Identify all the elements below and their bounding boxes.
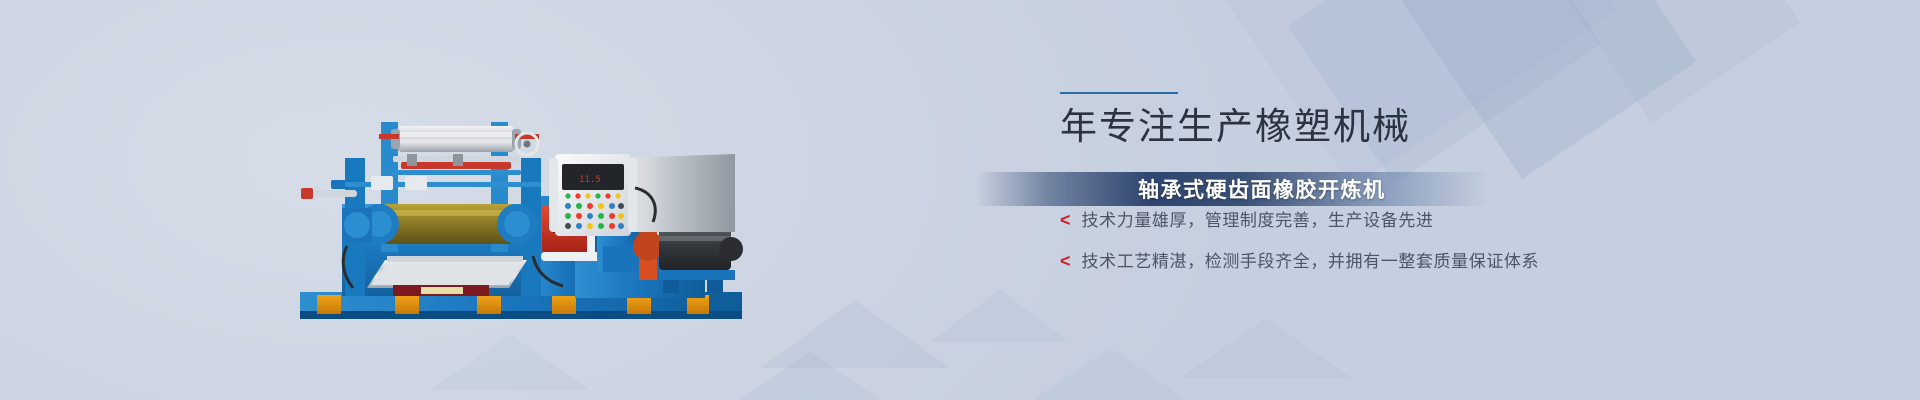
decorative-triangle-icon <box>690 352 930 400</box>
chevron-left-icon: < <box>1060 211 1071 229</box>
rubber-mixing-mill-photo: 11.5 <box>287 96 784 336</box>
svg-text:11.5: 11.5 <box>579 175 601 185</box>
list-item-label: 技术工艺精湛，检测手段齐全，并拥有一整套质量保证体系 <box>1082 247 1540 272</box>
decorative-triangle-icon <box>1000 348 1220 400</box>
title-rule-divider <box>1060 92 1178 94</box>
hero-banner: 11.5 <box>0 0 1920 400</box>
decorative-triangle-icon <box>1180 318 1352 378</box>
decorative-triangle-icon <box>430 334 590 390</box>
subtitle-banner: 轴承式硬齿面橡胶开炼机 <box>978 172 1486 206</box>
subtitle-text: 轴承式硬齿面橡胶开炼机 <box>1138 174 1386 204</box>
product-image: 11.5 <box>287 96 784 336</box>
chevron-left-icon: < <box>1060 252 1071 270</box>
feature-bullet-list: < 技术力量雄厚，管理制度完善，生产设备先进 < 技术工艺精湛，检测手段齐全，并… <box>1060 206 1620 272</box>
list-item: < 技术力量雄厚，管理制度完善，生产设备先进 <box>1060 206 1620 231</box>
hero-text-column: 年专注生产橡塑机械 轴承式硬齿面橡胶开炼机 < 技术力量雄厚，管理制度完善，生产… <box>1060 92 1620 288</box>
decorative-triangle-icon <box>930 290 1070 342</box>
page-title: 年专注生产橡塑机械 <box>1060 109 1620 148</box>
decorative-triangle-icon <box>760 300 950 368</box>
list-item: < 技术工艺精湛，检测手段齐全，并拥有一整套质量保证体系 <box>1060 247 1620 272</box>
list-item-label: 技术力量雄厚，管理制度完善，生产设备先进 <box>1082 206 1434 231</box>
